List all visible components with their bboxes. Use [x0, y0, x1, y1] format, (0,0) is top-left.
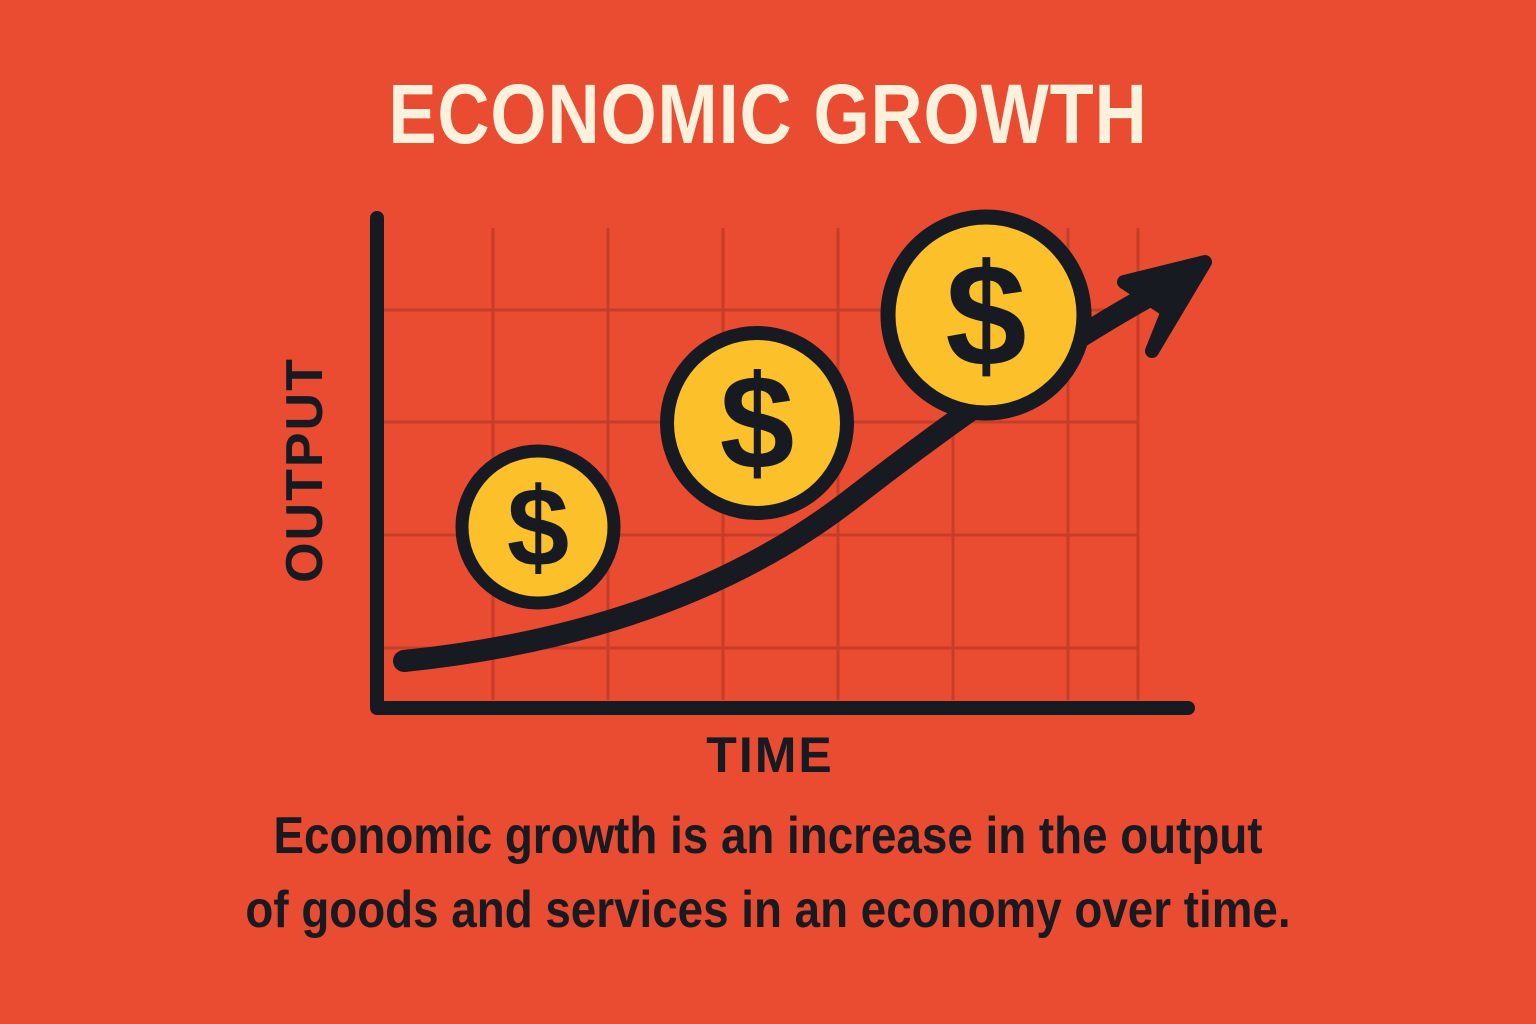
medium-coin: $	[667, 333, 847, 513]
caption: Economic growth is an increase in the ou…	[205, 800, 1331, 948]
x-axis-label: TIME	[706, 727, 833, 783]
large-coin: $	[888, 217, 1084, 413]
small-coin-dollar-icon: $	[507, 465, 569, 590]
caption-line-2: of goods and services in an economy over…	[205, 874, 1331, 948]
y-axis-label: OUTPUT	[276, 357, 334, 583]
infographic-canvas: ECONOMIC GROWTH $	[0, 0, 1536, 1024]
medium-coin-dollar-icon: $	[720, 349, 795, 498]
caption-line-1: Economic growth is an increase in the ou…	[205, 800, 1331, 874]
large-coin-dollar-icon: $	[945, 234, 1026, 397]
small-coin: $	[462, 451, 614, 603]
